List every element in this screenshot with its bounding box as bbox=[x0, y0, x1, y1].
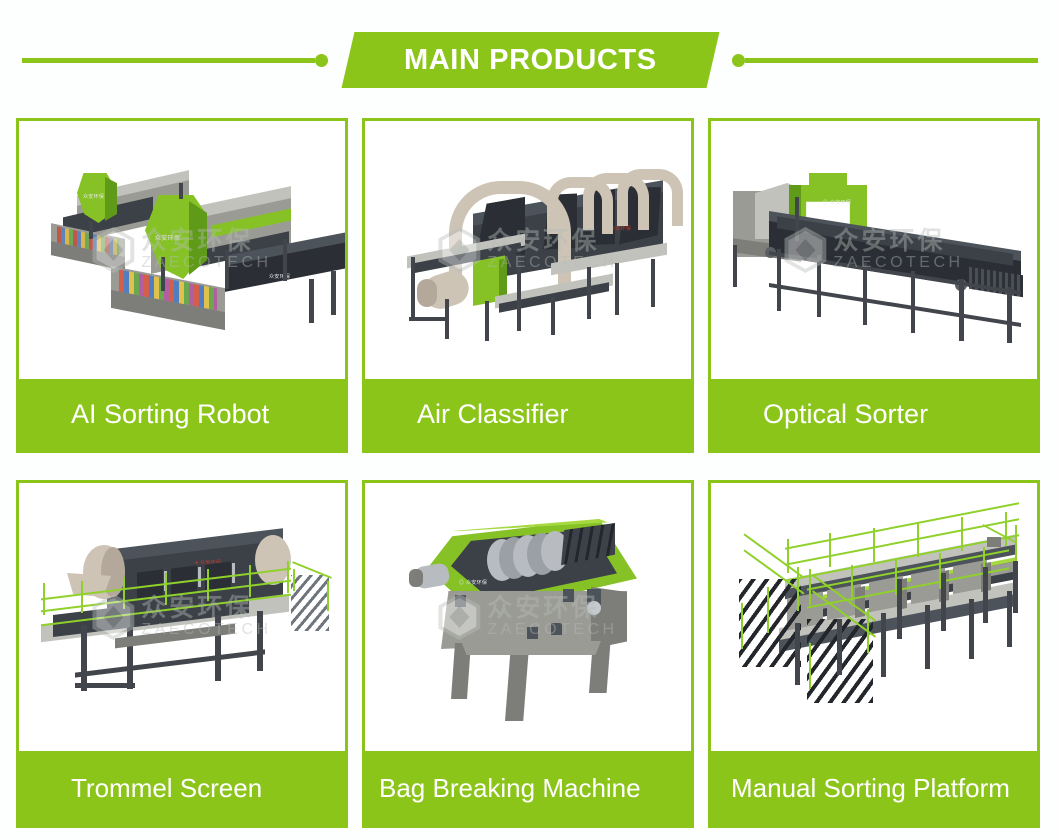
section-header: MAIN PRODUCTS bbox=[0, 24, 1060, 96]
product-image-optical-sorter: ◎ 众安环保 bbox=[711, 121, 1037, 379]
product-label-manual-sorting-platform: Manual Sorting Platform bbox=[711, 751, 1037, 825]
illustration-bag-breaking-machine: ◎ 众安环保 bbox=[365, 483, 691, 751]
product-card-trommel-screen[interactable]: ● 众安环保 bbox=[16, 480, 348, 828]
header-dot-left-icon bbox=[315, 54, 328, 67]
product-label-trommel-screen: Trommel Screen bbox=[19, 751, 345, 825]
section-title-banner: MAIN PRODUCTS bbox=[341, 32, 719, 88]
illustration-manual-sorting-platform bbox=[711, 483, 1037, 751]
product-label-optical-sorter: Optical Sorter bbox=[711, 379, 1037, 450]
illustration-air-classifier: ● 众安环保 bbox=[365, 121, 691, 379]
main-products-section: MAIN PRODUCTS 众安环保 bbox=[0, 0, 1060, 840]
product-card-ai-sorting-robot[interactable]: 众安环保 众安环保 bbox=[16, 118, 348, 453]
product-card-optical-sorter[interactable]: ◎ 众安环保 bbox=[708, 118, 1040, 453]
product-label-air-classifier: Air Classifier bbox=[365, 379, 691, 450]
product-image-trommel-screen: ● 众安环保 bbox=[19, 483, 345, 751]
page-title: MAIN PRODUCTS bbox=[404, 41, 657, 79]
illustration-ai-sorting-robot: 众安环保 众安环保 bbox=[19, 121, 345, 379]
product-label-bag-breaking-machine: Bag Breaking Machine bbox=[365, 751, 691, 825]
header-dot-right-icon bbox=[732, 54, 745, 67]
illustration-trommel-screen: ● 众安环保 bbox=[19, 483, 345, 751]
product-card-bag-breaking-machine[interactable]: ◎ 众安环保 bbox=[362, 480, 694, 828]
illustration-optical-sorter: ◎ 众安环保 bbox=[711, 121, 1037, 379]
product-image-bag-breaking-machine: ◎ 众安环保 bbox=[365, 483, 691, 751]
product-card-manual-sorting-platform[interactable]: 众安环保 ZAECOTECH Manual Sorting Platform bbox=[708, 480, 1040, 828]
product-card-air-classifier[interactable]: ● 众安环保 bbox=[362, 118, 694, 453]
header-rule-left bbox=[22, 58, 315, 63]
product-image-manual-sorting-platform: 众安环保 ZAECOTECH bbox=[711, 483, 1037, 751]
product-image-air-classifier: ● 众安环保 bbox=[365, 121, 691, 379]
product-image-ai-sorting-robot: 众安环保 众安环保 bbox=[19, 121, 345, 379]
product-grid: 众安环保 众安环保 bbox=[16, 118, 1044, 828]
product-label-ai-sorting-robot: AI Sorting Robot bbox=[19, 379, 345, 450]
header-rule-right bbox=[745, 58, 1038, 63]
